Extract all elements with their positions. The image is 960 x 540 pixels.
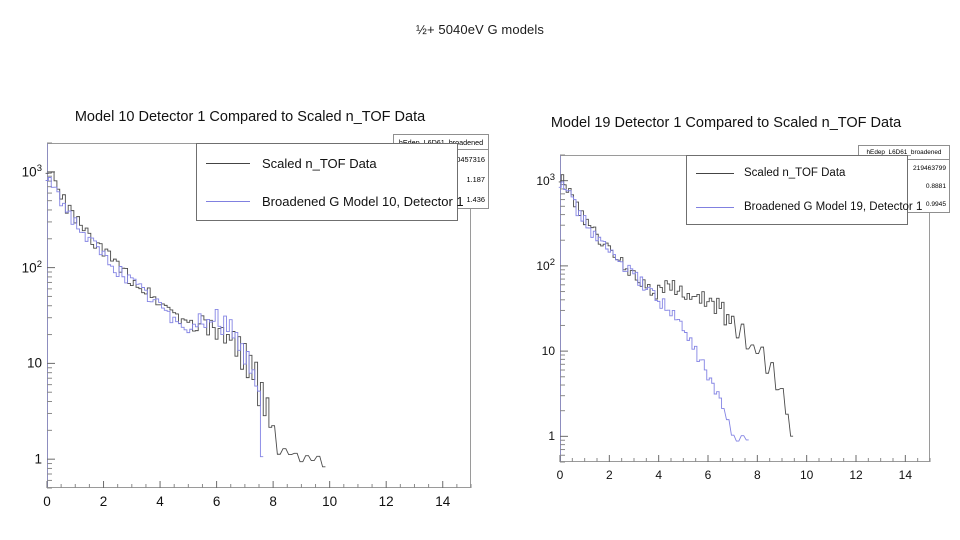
legend-label: Broadened G Model 19, Detector 1 (744, 201, 922, 213)
page-heading: ½+ 5040eV G models (0, 22, 960, 37)
legend-label: Broadened G Model 10, Detector 1 (262, 194, 464, 209)
plot-panel-model-19: Model 19 Detector 1 Compared to Scaled n… (500, 105, 960, 505)
legend-entry-model: Broadened G Model 10, Detector 1 (197, 182, 457, 220)
legend-entry-data: Scaled n_TOF Data (687, 156, 907, 190)
legend[interactable]: Scaled n_TOF Data Broadened G Model 10, … (196, 143, 458, 221)
legend-label: Scaled n_TOF Data (262, 156, 377, 171)
legend-line-icon (206, 163, 250, 164)
legend-entry-model: Broadened G Model 19, Detector 1 (687, 190, 907, 224)
legend-label: Scaled n_TOF Data (744, 167, 845, 179)
legend-entry-data: Scaled n_TOF Data (197, 144, 457, 182)
legend-line-icon (696, 173, 734, 174)
legend-line-icon (696, 207, 734, 208)
legend[interactable]: Scaled n_TOF Data Broadened G Model 19, … (686, 155, 908, 225)
plot-panel-model-10: Model 10 Detector 1 Compared to Scaled n… (0, 100, 500, 530)
legend-line-icon (206, 201, 250, 202)
